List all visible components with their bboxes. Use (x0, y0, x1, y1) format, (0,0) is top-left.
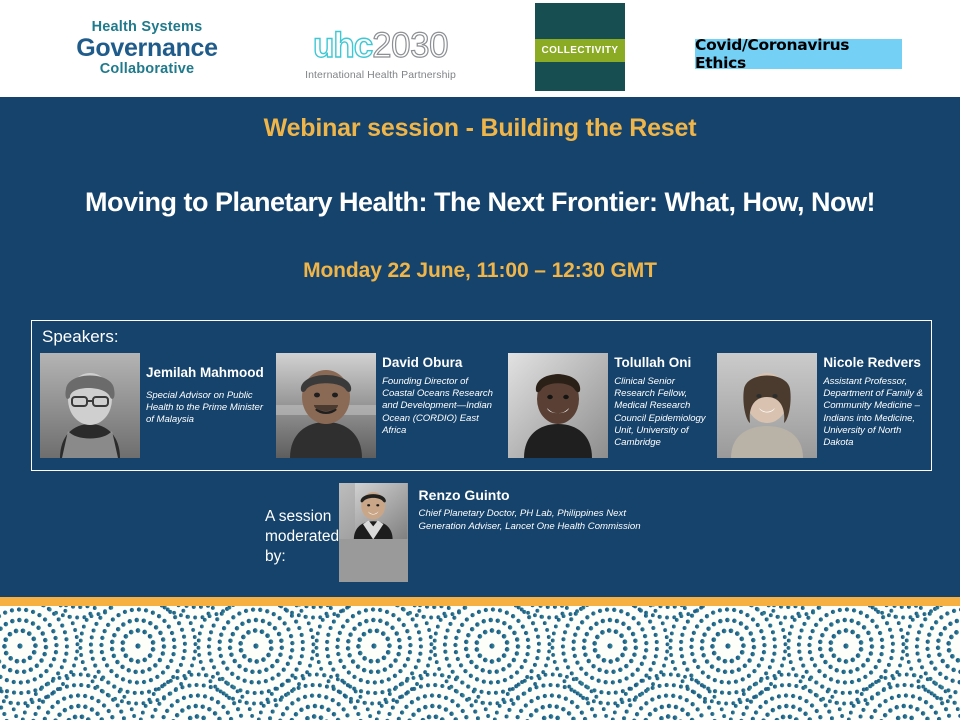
speaker-card: Jemilah Mahmood Special Advisor on Publi… (40, 353, 268, 458)
hsgc-line-2: Governance (62, 36, 232, 61)
moderator-name: Renzo Guinto (419, 487, 665, 503)
speaker-meta: Nicole Redvers Assistant Professor, Depa… (823, 353, 928, 458)
avatar (40, 353, 140, 458)
uhc-number: 2030 (372, 26, 448, 66)
avatar (508, 353, 608, 458)
speaker-meta: Tolullah Oni Clinical Senior Research Fe… (614, 353, 709, 458)
speaker-card: Tolullah Oni Clinical Senior Research Fe… (508, 353, 709, 458)
uhc-wordmark: uhc (313, 26, 372, 66)
dotted-circles-pattern (0, 606, 960, 720)
collectivity-label: COLLECTIVITY (541, 45, 618, 56)
speaker-meta: Jemilah Mahmood Special Advisor on Publi… (146, 353, 268, 458)
speaker-title: Clinical Senior Research Fellow, Medical… (614, 376, 709, 450)
speaker-title: Assistant Professor, Department of Famil… (823, 376, 928, 450)
logo-collectivity: COLLECTIVITY (535, 3, 625, 91)
hsgc-line-1: Health Systems (62, 20, 232, 35)
avatar (339, 483, 407, 582)
main-panel: Webinar session - Building the Reset Mov… (0, 97, 960, 597)
collectivity-band: COLLECTIVITY (535, 39, 625, 62)
session-kicker: Webinar session - Building the Reset (0, 114, 960, 143)
speaker-card: Nicole Redvers Assistant Professor, Depa… (717, 353, 928, 458)
speakers-list: Jemilah Mahmood Special Advisor on Publi… (40, 353, 928, 458)
moderator-meta: Renzo Guinto Chief Planetary Doctor, PH … (408, 483, 665, 582)
logo-health-systems-governance-collaborative: Health Systems Governance Collaborative (62, 20, 232, 76)
speaker-name: Jemilah Mahmood (146, 355, 268, 381)
logo-covid-coronavirus-ethics: Covid/Coronavirus Ethics (695, 39, 902, 69)
hsgc-line-3: Collaborative (62, 62, 232, 77)
speaker-card: David Obura Founding Director of Coastal… (276, 353, 500, 458)
moderator-label: A session moderated by: (265, 483, 339, 582)
page-title: Moving to Planetary Health: The Next Fro… (0, 187, 960, 218)
avatar (717, 353, 817, 458)
moderator-section: A session moderated by: Renzo (265, 483, 665, 582)
speaker-title: Special Advisor on Public Health to the … (146, 386, 268, 427)
webinar-slide: Health Systems Governance Collaborative … (0, 0, 960, 720)
logo-bar: Health Systems Governance Collaborative … (0, 0, 960, 97)
uhc-subtitle: International Health Partnership (298, 69, 463, 81)
speaker-name: Tolullah Oni (614, 355, 709, 371)
speaker-meta: David Obura Founding Director of Coastal… (382, 353, 500, 458)
speaker-name: David Obura (382, 355, 500, 371)
avatar (276, 353, 376, 458)
gold-divider (0, 597, 960, 606)
moderator-title: Chief Planetary Doctor, PH Lab, Philippi… (419, 508, 665, 533)
covid-ethics-label: Covid/Coronavirus Ethics (695, 36, 902, 72)
logo-uhc2030: uhc 2030 International Health Partnershi… (298, 26, 463, 81)
speakers-label: Speakers: (42, 327, 119, 347)
session-datetime: Monday 22 June, 11:00 – 12:30 GMT (0, 259, 960, 283)
speakers-box: Speakers: (31, 320, 932, 471)
speaker-name: Nicole Redvers (823, 355, 928, 371)
speaker-title: Founding Director of Coastal Oceans Rese… (382, 376, 500, 437)
